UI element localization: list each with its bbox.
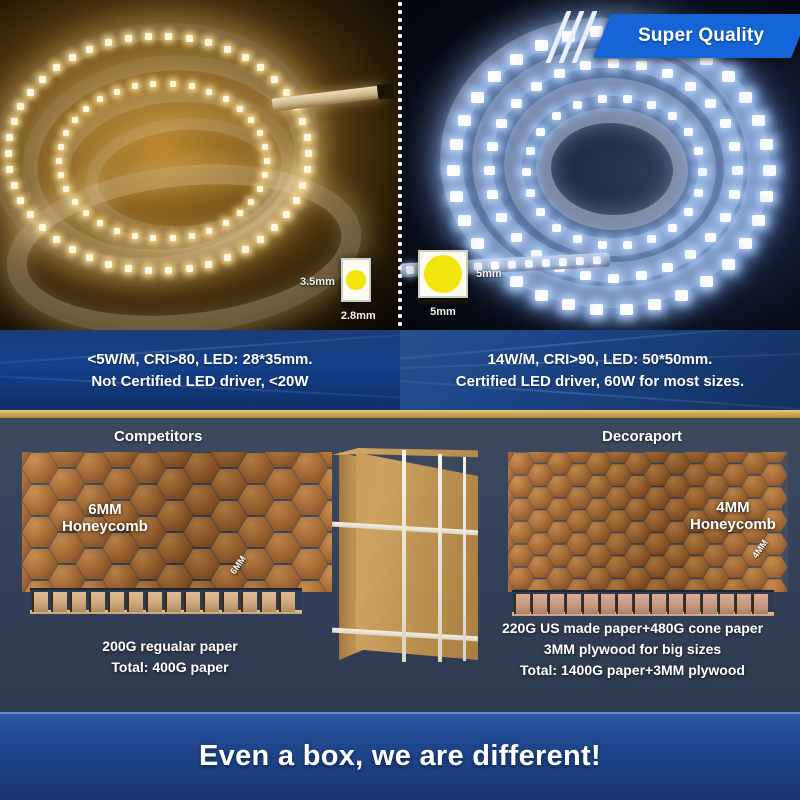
description-decoraport: 220G US made paper+480G cone paper 3MM p… bbox=[470, 618, 795, 681]
competitor-led-strip-photo: 3.5mm 2.8mm bbox=[0, 0, 400, 330]
led-chip-5050 bbox=[418, 250, 468, 298]
spec-band: <5W/M, CRI>80, LED: 28*35mm. Not Certifi… bbox=[0, 330, 800, 410]
honeycomb-panel-decoraport: 4MM Honeycomb 4MM bbox=[508, 452, 788, 592]
honeycomb-label-right-line1: 4MM bbox=[690, 500, 776, 517]
description-competitor: 200G regualar paper Total: 400G paper bbox=[20, 636, 320, 678]
chip-height-label-right: 5mm bbox=[476, 268, 502, 280]
column-header-decoraport: Decoraport bbox=[602, 428, 682, 445]
cardboard-cross-section-competitor bbox=[30, 588, 302, 614]
ribbon-tag: Super Quality bbox=[593, 14, 800, 58]
cardboard-cross-section-decoraport bbox=[512, 590, 774, 616]
chip-width-label-left: 2.8mm bbox=[341, 310, 376, 322]
column-header-competitors: Competitors bbox=[114, 428, 202, 445]
chip-width-label-right: 5mm bbox=[418, 306, 468, 318]
packaging-comparison-section: Competitors Decoraport 6MM Honeycomb 6MM… bbox=[0, 418, 800, 712]
gold-divider-bar bbox=[0, 410, 800, 418]
footer-top-highlight bbox=[0, 712, 800, 714]
description-competitor-line2: Total: 400G paper bbox=[20, 657, 320, 678]
description-decoraport-line3: Total: 1400G paper+3MM plywood bbox=[470, 660, 795, 681]
promo-infographic: 3.5mm 2.8mm bbox=[0, 0, 800, 800]
description-decoraport-line1: 220G US made paper+480G cone paper bbox=[470, 618, 795, 639]
ribbon-label: Super Quality bbox=[638, 25, 764, 47]
led-phosphor-dot bbox=[424, 255, 462, 293]
ribbon-stripes-icon bbox=[550, 14, 602, 58]
honeycomb-label-left-line1: 6MM bbox=[62, 502, 148, 519]
chip-base bbox=[418, 299, 468, 304]
spec-swoosh-decor bbox=[0, 330, 400, 410]
chip-base bbox=[341, 303, 376, 308]
honeycomb-label-left: 6MM Honeycomb bbox=[62, 502, 148, 536]
carton-front-face bbox=[356, 446, 478, 660]
honeycomb-label-right-line2: Honeycomb bbox=[690, 517, 776, 534]
carton-strap-vertical bbox=[438, 454, 442, 662]
product-photo-row: 3.5mm 2.8mm bbox=[0, 0, 800, 330]
carton-strap-vertical bbox=[402, 450, 406, 662]
led-chip-2835 bbox=[341, 258, 371, 302]
callout-5050-chip: 5mm 5mm bbox=[418, 250, 502, 318]
spec-panel-decoraport: 14W/M, CRI>90, LED: 50*50mm. Certified L… bbox=[400, 330, 800, 410]
spec-left-line2: Not Certified LED driver, <20W bbox=[91, 373, 308, 390]
spec-left-line1: <5W/M, CRI>80, LED: 28*35mm. bbox=[87, 351, 312, 368]
description-decoraport-line2: 3MM plywood for big sizes bbox=[470, 639, 795, 660]
decoraport-led-strip-photo: 5mm 5mm Super Quality bbox=[400, 0, 800, 330]
led-phosphor-dot bbox=[346, 270, 366, 290]
chip-height-label-left: 3.5mm bbox=[300, 276, 335, 288]
honeycomb-panel-competitor: 6MM Honeycomb 6MM bbox=[22, 452, 332, 592]
description-competitor-line1: 200G regualar paper bbox=[20, 636, 320, 657]
honeycomb-label-right: 4MM Honeycomb bbox=[690, 500, 776, 534]
shipping-carton-illustration bbox=[330, 446, 478, 668]
carton-strap-vertical bbox=[463, 457, 466, 661]
super-quality-ribbon: Super Quality bbox=[550, 14, 800, 58]
spec-right-line1: 14W/M, CRI>90, LED: 50*50mm. bbox=[488, 351, 713, 368]
spec-swoosh-decor bbox=[400, 330, 800, 410]
honeycomb-label-left-line2: Honeycomb bbox=[62, 519, 148, 536]
spec-right-line2: Certified LED driver, 60W for most sizes… bbox=[456, 373, 744, 390]
footer-banner: Even a box, we are different! bbox=[0, 712, 800, 800]
footer-tagline: Even a box, we are different! bbox=[199, 740, 601, 773]
callout-2835-chip: 3.5mm 2.8mm bbox=[300, 258, 376, 322]
spec-panel-competitor: <5W/M, CRI>80, LED: 28*35mm. Not Certifi… bbox=[0, 330, 400, 410]
